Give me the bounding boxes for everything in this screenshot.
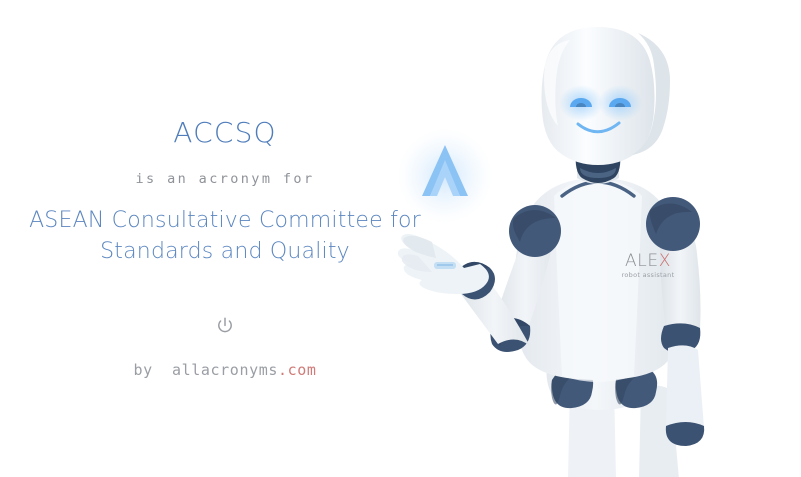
robot-badge-subtitle: robot assistant xyxy=(622,271,675,279)
acronym-expansion: ASEAN Consultative Committee for Standar… xyxy=(22,205,428,267)
robot-illustration: ALEX robot assistant xyxy=(398,0,801,477)
byline-prefix: by allacronyms xyxy=(134,361,278,379)
acronym-connector-text: is an acronym for xyxy=(0,170,450,188)
acronym-text-column: ACCSQ is an acronym for ASEAN Consultati… xyxy=(0,0,450,477)
acronym-term: ACCSQ xyxy=(0,116,450,150)
power-icon xyxy=(215,316,235,336)
divider xyxy=(0,316,450,336)
acronym-card: ACCSQ is an acronym for ASEAN Consultati… xyxy=(0,0,801,477)
alex-robot-svg: ALEX robot assistant xyxy=(398,0,801,477)
byline[interactable]: by allacronyms.com xyxy=(0,360,450,380)
robot-badge-name: ALEX xyxy=(625,251,671,271)
byline-tld: .com xyxy=(278,361,317,379)
chevron-hologram xyxy=(398,128,493,224)
